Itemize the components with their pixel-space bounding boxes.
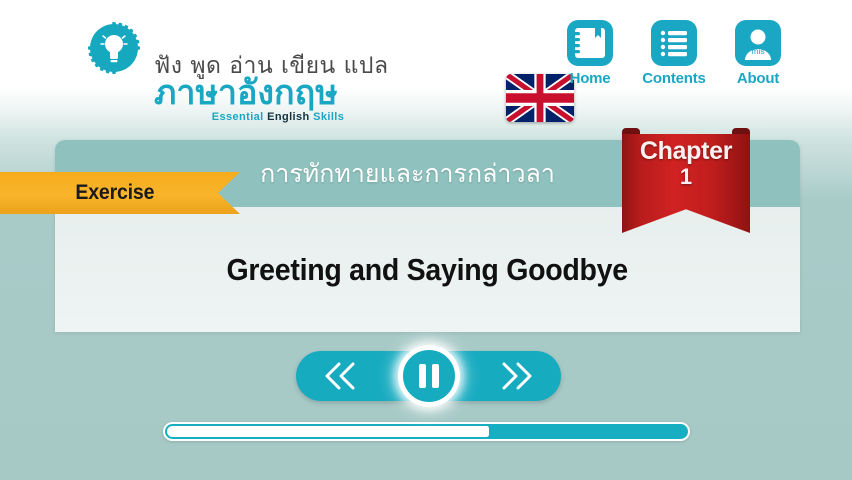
user-avatar-icon[interactable]: mis — [735, 20, 781, 66]
app-root: ฟัง พูด อ่าน เขียน แปล ภาษาอังกฤษ Essent… — [0, 0, 852, 480]
nav-label-home: Home — [558, 70, 622, 87]
exercise-tab-label: Exercise — [75, 181, 154, 205]
brand-thai-main: ภาษาอังกฤษ — [154, 76, 402, 110]
notebook-icon[interactable] — [567, 20, 613, 66]
progress-bar-fill — [167, 426, 489, 437]
nav-label-about: About — [726, 70, 790, 87]
lesson-title-english: Greeting and Saying Goodbye — [227, 252, 628, 288]
chapter-badge[interactable]: Chapter 1 — [622, 128, 750, 233]
svg-text:mis: mis — [751, 46, 764, 56]
pause-bar-left — [419, 364, 426, 388]
app-header: ฟัง พูด อ่าน เขียน แปล ภาษาอังกฤษ Essent… — [0, 0, 852, 132]
pause-icon[interactable] — [398, 345, 460, 407]
nav-item-contents[interactable]: Contents — [642, 20, 706, 87]
exercise-tab[interactable]: Exercise — [0, 172, 240, 214]
nav-label-contents: Contents — [642, 70, 706, 87]
top-navigation: Home Contents — [558, 20, 790, 87]
list-icon[interactable] — [651, 20, 697, 66]
brand-wordmark: ฟัง พูด อ่าน เขียน แปล ภาษาอังกฤษ Essent… — [154, 54, 402, 123]
lightbulb-gear-icon — [88, 22, 140, 74]
brand-logo-block: ฟัง พูด อ่าน เขียน แปล ภาษาอังกฤษ Essent… — [88, 18, 402, 123]
chapter-word-label: Chapter — [622, 138, 750, 164]
subbrand-word-skills: Skills — [313, 111, 344, 123]
nav-item-home[interactable]: Home — [558, 20, 622, 87]
forward-double-chevron-right-icon[interactable] — [493, 359, 539, 393]
pause-bar-right — [432, 364, 439, 388]
rewind-double-chevron-left-icon[interactable] — [318, 359, 364, 393]
nav-item-about[interactable]: mis About — [726, 20, 790, 87]
subbrand-word-english: English — [267, 111, 310, 123]
subbrand-word-essential: Essential — [212, 111, 264, 123]
chapter-badge-text: Chapter 1 — [622, 138, 750, 190]
progress-bar[interactable] — [163, 422, 690, 441]
chapter-number-label: 1 — [622, 164, 750, 189]
